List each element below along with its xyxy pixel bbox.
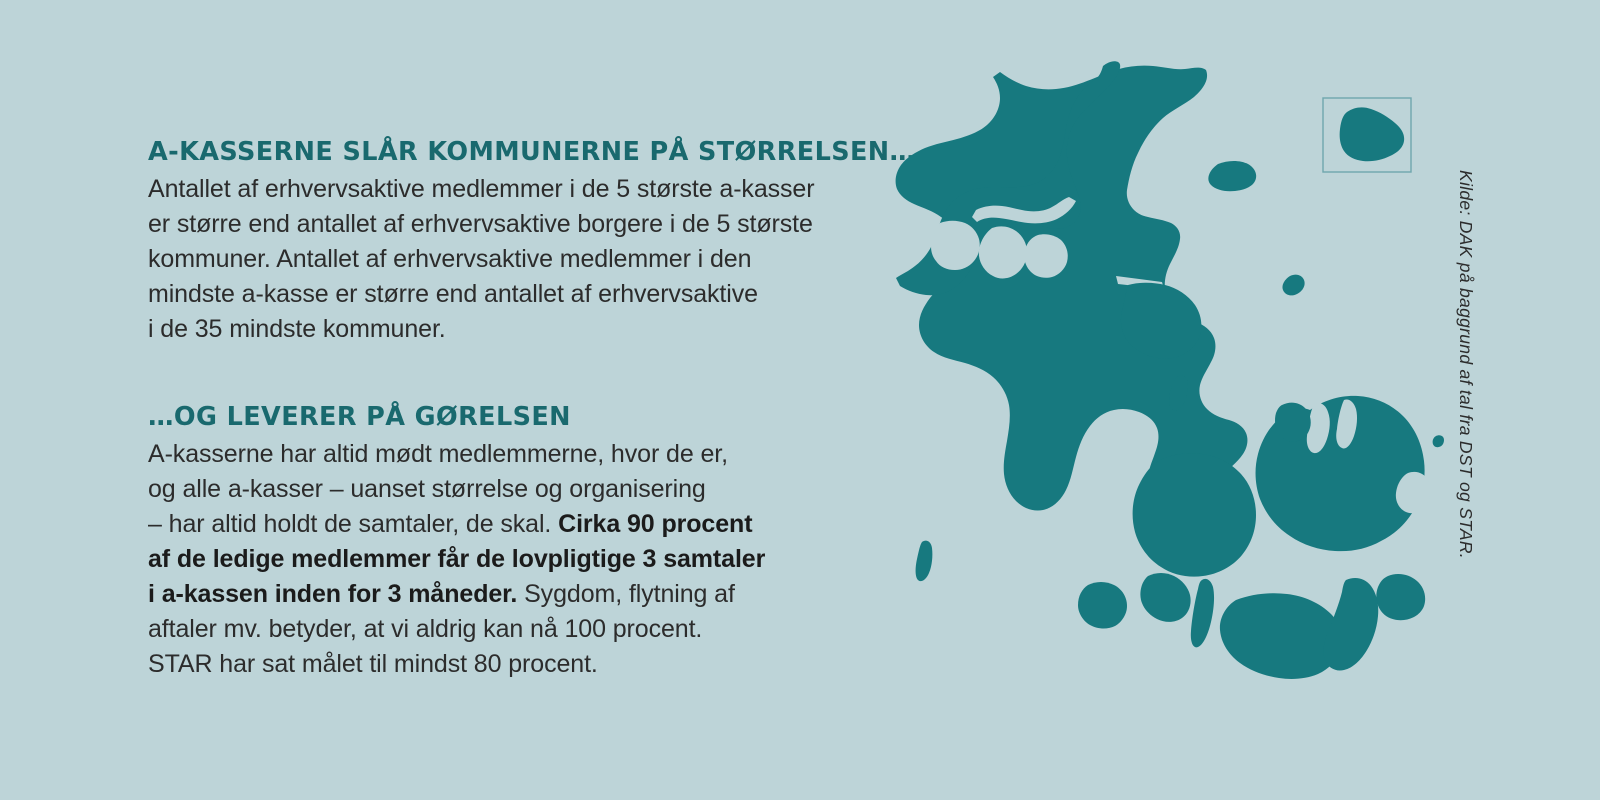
body-line: aftaler mv. betyder, at vi aldrig kan nå…: [148, 612, 908, 647]
heading-og-leverer: …OG LEVERER PÅ GØRELSEN: [148, 403, 908, 431]
body-bold-run: Cirka 90 procent: [558, 510, 752, 538]
limfjord-bay-east: [1024, 234, 1068, 278]
region-langeland: [1191, 579, 1214, 647]
body-line: kommuner. Antallet af erhvervsaktive med…: [148, 242, 908, 277]
region-laeso: [1208, 161, 1256, 191]
region-bornholm: [1340, 107, 1405, 161]
body-line-mixed: – har altid holdt de samtaler, de skal. …: [148, 507, 908, 542]
region-falster: [1324, 578, 1379, 671]
ringkobing-fjord: [897, 380, 928, 432]
region-lolland: [1220, 593, 1342, 679]
body-line-mixed: i a-kassen inden for 3 måneder. Sygdom, …: [148, 577, 908, 612]
denmark-map-svg: [880, 60, 1480, 720]
infographic-canvas: A-KASSERNE SLÅR KOMMUNERNE PÅ STØRRELSEN…: [0, 0, 1600, 800]
region-als: [1078, 582, 1127, 629]
denmark-map: [880, 60, 1480, 720]
region-hven: [1433, 435, 1444, 447]
body-line: i de 35 mindste kommuner.: [148, 312, 908, 347]
region-fyn: [1133, 453, 1256, 576]
body-line: STAR har sat målet til mindst 80 procent…: [148, 647, 908, 682]
body-line: Antallet af erhvervsaktive medlemmer i d…: [148, 172, 908, 207]
region-moen: [1376, 574, 1425, 620]
region-fyn-tail: [1140, 573, 1190, 622]
region-fanoe: [916, 541, 933, 582]
heading-a-kasserne-slaar: A-KASSERNE SLÅR KOMMUNERNE PÅ STØRRELSEN…: [148, 138, 908, 166]
text-block-size: A-KASSERNE SLÅR KOMMUNERNE PÅ STØRRELSEN…: [148, 138, 908, 347]
limfjord-bay-west: [931, 221, 980, 270]
body-paragraph-size: Antallet af erhvervsaktive medlemmer i d…: [148, 172, 908, 347]
body-line-bold: af de ledige medlemmer får de lovpligtig…: [148, 542, 908, 577]
region-anholt: [1282, 275, 1304, 296]
region-odsherred: [1275, 403, 1311, 442]
body-text-run: – har altid holdt de samtaler, de skal.: [148, 510, 558, 538]
text-block-delivery: …OG LEVERER PÅ GØRELSEN A-kasserne har a…: [148, 403, 908, 682]
body-text-run: Sygdom, flytning af: [517, 580, 735, 608]
body-bold-run: af de ledige medlemmer får de lovpligtig…: [148, 545, 765, 573]
body-bold-run: i a-kassen inden for 3 måneder.: [148, 580, 517, 608]
body-line: mindste a-kasse er større end antallet a…: [148, 277, 908, 312]
nissum-fjord: [920, 487, 940, 526]
text-column: A-KASSERNE SLÅR KOMMUNERNE PÅ STØRRELSEN…: [148, 138, 908, 682]
body-line: A-kasserne har altid mødt medlemmerne, h…: [148, 437, 908, 472]
body-paragraph-delivery: A-kasserne har altid mødt medlemmerne, h…: [148, 437, 908, 682]
body-line: og alle a-kasser – uanset størrelse og o…: [148, 472, 908, 507]
body-line: er større end antallet af erhvervsaktive…: [148, 207, 908, 242]
